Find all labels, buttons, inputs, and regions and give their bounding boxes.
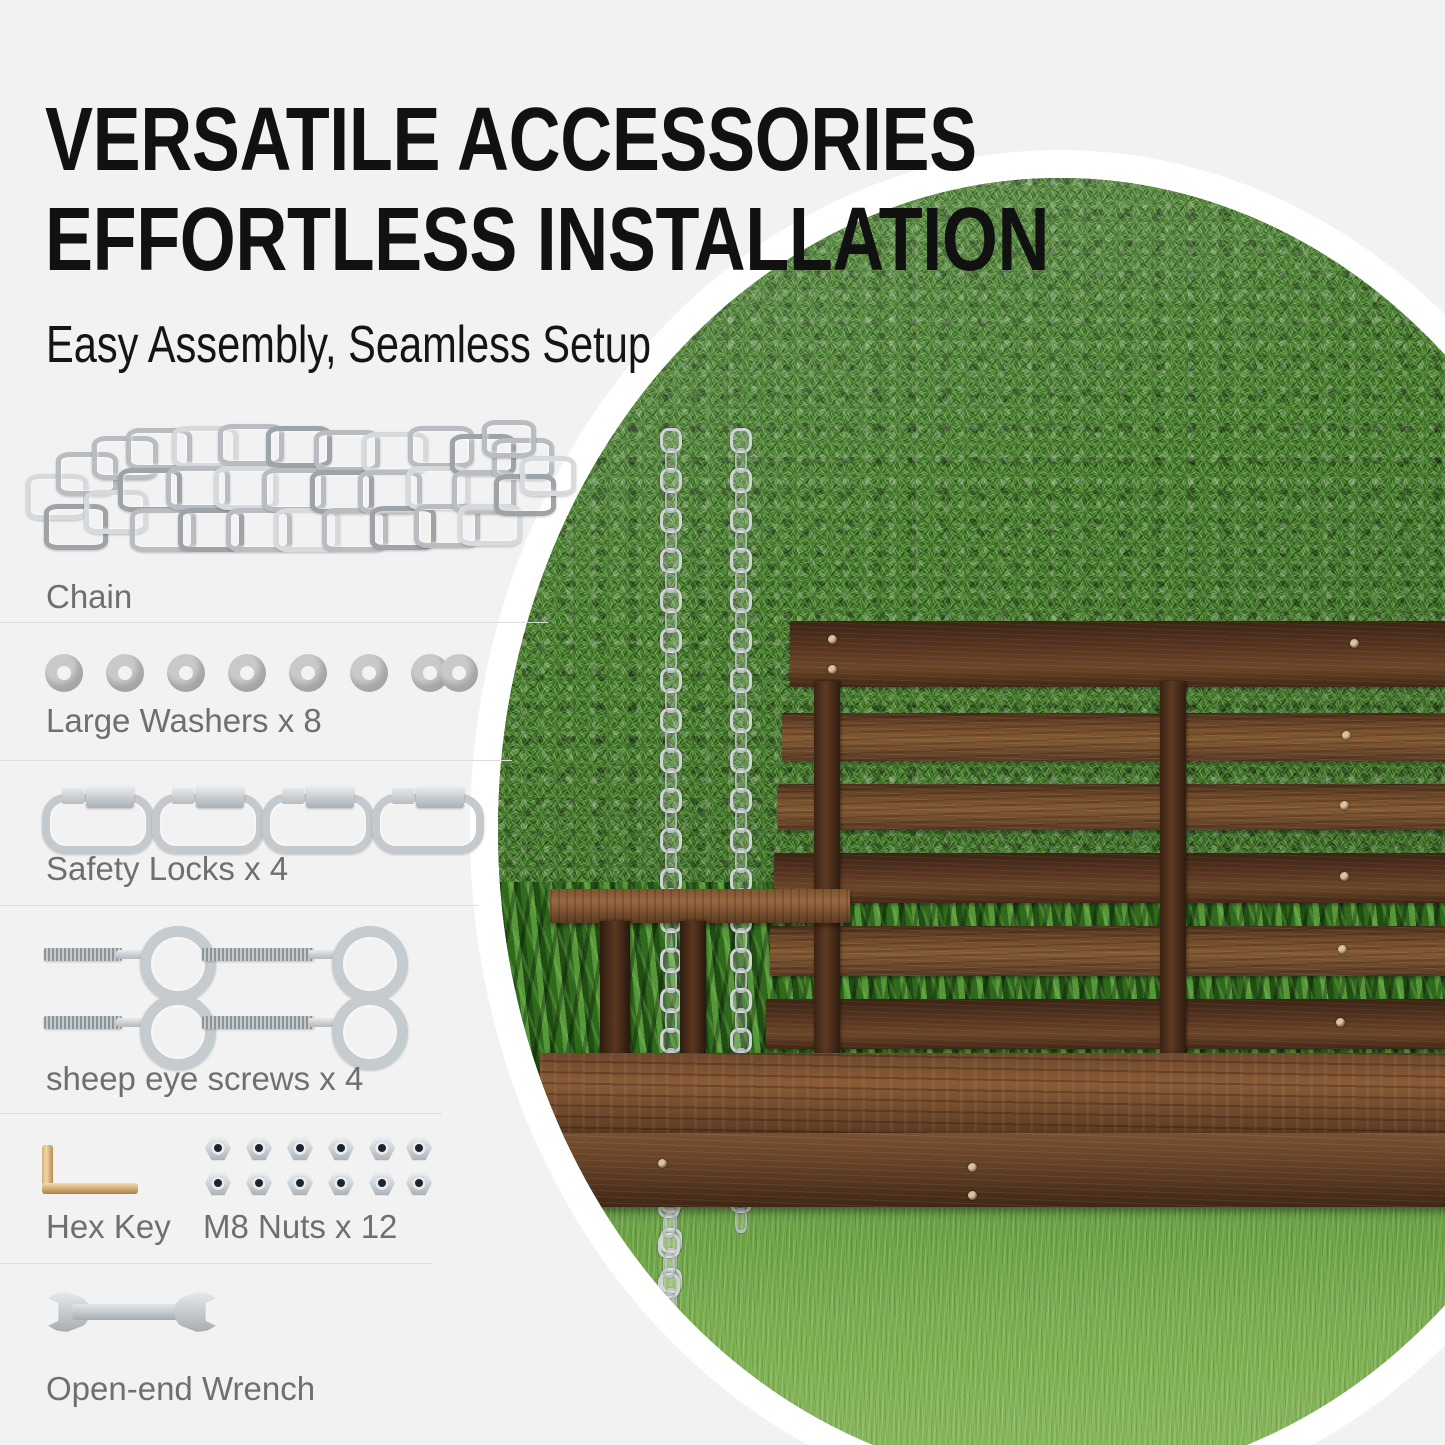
swing-seat <box>540 1053 1445 1139</box>
open-end-wrench-icon <box>42 1288 222 1336</box>
accessory-label: sheep eye screws x 4 <box>46 1060 363 1098</box>
row-divider <box>0 622 548 623</box>
headline-line-1: VERSATILE ACCESSORIES <box>45 92 853 189</box>
backrest-slat <box>774 853 1445 903</box>
row-divider <box>0 1113 442 1114</box>
headline-line-2: EFFORTLESS INSTALLATION <box>45 192 853 289</box>
row-divider <box>0 1263 432 1264</box>
swing-seat-apron <box>538 1133 1445 1207</box>
accessory-label: Open-end Wrench <box>46 1370 315 1408</box>
accessory-label: Chain <box>46 578 132 616</box>
backrest-slat <box>782 713 1445 761</box>
backrest-stile <box>1160 681 1186 1061</box>
backrest-slat <box>778 784 1445 830</box>
row-divider <box>0 760 512 761</box>
backrest-slat <box>790 621 1445 687</box>
accessory-label: Hex Key <box>46 1208 171 1246</box>
swing-chain-left <box>660 428 676 1118</box>
chain-icon <box>22 412 567 562</box>
backrest-slat <box>770 926 1445 976</box>
accessory-label: M8 Nuts x 12 <box>203 1208 397 1246</box>
accessories-panel: VERSATILE ACCESSORIES EFFORTLESS INSTALL… <box>0 0 620 1445</box>
subtitle: Easy Assembly, Seamless Setup <box>46 316 766 374</box>
accessory-label: Safety Locks x 4 <box>46 850 288 888</box>
backrest-slat <box>766 999 1445 1049</box>
porch-swing-bench <box>790 621 1445 1403</box>
accessory-label: Large Washers x 8 <box>46 702 322 740</box>
row-divider <box>0 905 478 906</box>
backrest-stile <box>814 681 840 1061</box>
infographic-page: VERSATILE ACCESSORIES EFFORTLESS INSTALL… <box>0 0 1445 1445</box>
